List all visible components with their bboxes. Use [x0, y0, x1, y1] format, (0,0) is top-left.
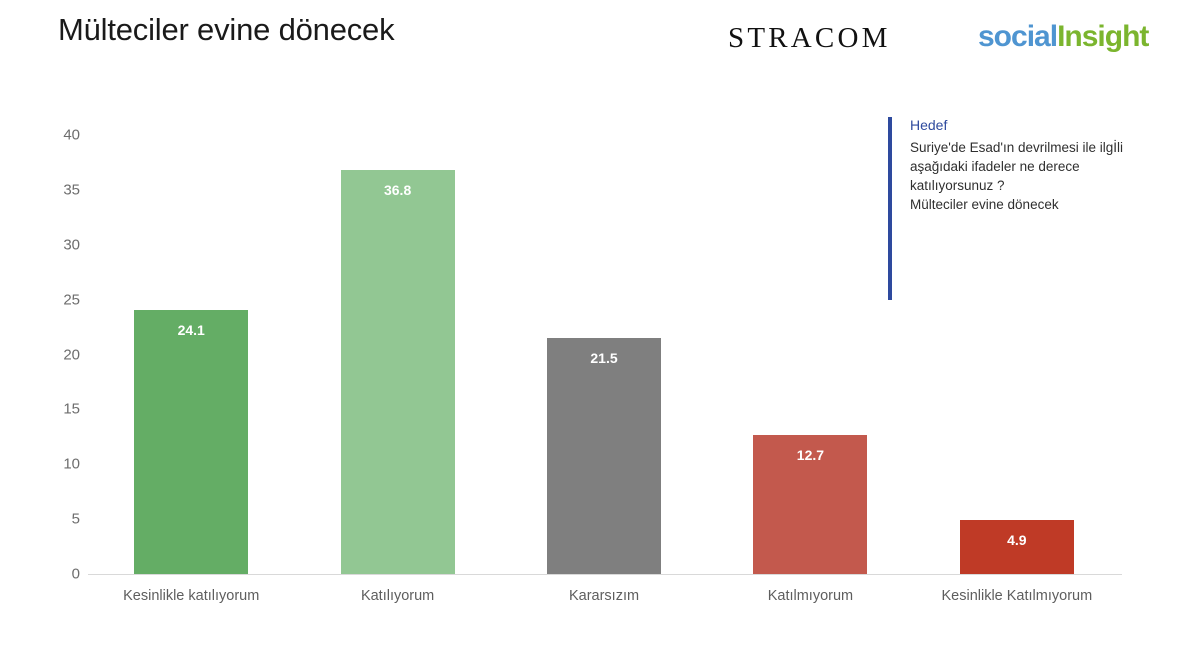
x-axis-category-label: Kesinlikle Katılmıyorum: [914, 588, 1120, 604]
bar-value-label: 4.9: [1007, 533, 1026, 547]
y-axis-tick: 25: [38, 292, 80, 307]
note-accent-bar: [888, 117, 892, 300]
bar-slot: 24.1: [88, 135, 294, 574]
note-line: aşağıdaki ifadeler ne derece: [910, 157, 1178, 176]
bar-value-label: 36.8: [384, 183, 411, 197]
bar-slot: 21.5: [501, 135, 707, 574]
y-axis: 4035302520151050: [38, 126, 80, 582]
note-heading: Hedef: [910, 117, 1178, 133]
y-axis-tick: 15: [38, 402, 80, 417]
x-axis-category-label: Katılıyorum: [294, 588, 500, 604]
bar[interactable]: 4.9: [960, 520, 1074, 574]
bar-slot: 12.7: [707, 135, 913, 574]
note-line: katılıyorsunuz ?: [910, 176, 1178, 195]
bar[interactable]: 24.1: [134, 310, 248, 574]
bar-value-label: 24.1: [178, 323, 205, 337]
x-axis-category-label: Kesinlikle katılıyorum: [88, 588, 294, 604]
bar[interactable]: 12.7: [753, 435, 867, 574]
note-line: Suriye'de Esad'ın devrilmesi ile ilgİli: [910, 138, 1178, 157]
x-axis-category-label: Kararsızım: [501, 588, 707, 604]
y-axis-tick: 35: [38, 182, 80, 197]
y-axis-tick: 0: [38, 567, 80, 582]
y-axis-tick: 10: [38, 457, 80, 472]
y-axis-tick: 20: [38, 347, 80, 362]
x-axis-line: [88, 574, 1122, 575]
note-line: Mülteciler evine dönecek: [910, 195, 1178, 214]
y-axis-tick: 40: [38, 128, 80, 143]
x-axis-category-label: Katılmıyorum: [707, 588, 913, 604]
slide-canvas: Mülteciler evine dönecek STRACOM socialI…: [0, 0, 1200, 651]
bar-chart: 4035302520151050 24.136.821.512.74.9 Kes…: [0, 0, 1200, 651]
note-body: Hedef Suriye'de Esad'ın devrilmesi ile i…: [910, 117, 1178, 214]
bar[interactable]: 36.8: [341, 170, 455, 574]
bar-slot: 36.8: [294, 135, 500, 574]
bar[interactable]: 21.5: [547, 338, 661, 574]
x-axis-labels: Kesinlikle katılıyorumKatılıyorumKararsı…: [88, 588, 1120, 604]
bar-value-label: 21.5: [590, 351, 617, 365]
y-axis-tick: 30: [38, 237, 80, 252]
y-axis-tick: 5: [38, 512, 80, 527]
bar-value-label: 12.7: [797, 448, 824, 462]
